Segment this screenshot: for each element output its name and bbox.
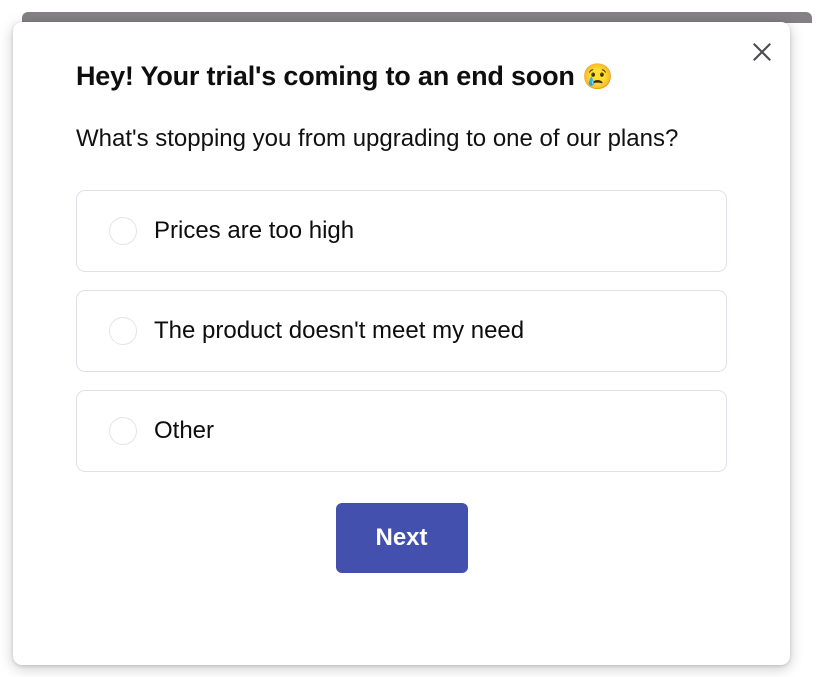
modal-body: Hey! Your trial's coming to an end soon … xyxy=(13,22,790,573)
page-title: Hey! Your trial's coming to an end soon … xyxy=(76,60,727,94)
radio-icon[interactable] xyxy=(109,217,137,245)
option-label: Other xyxy=(154,417,214,446)
survey-question: What's stopping you from upgrading to on… xyxy=(76,121,727,157)
radio-icon[interactable] xyxy=(109,317,137,345)
survey-options-list: Prices are too high The product doesn't … xyxy=(76,190,727,472)
close-button[interactable] xyxy=(740,30,784,74)
option-prices-too-high[interactable]: Prices are too high xyxy=(76,190,727,272)
modal-footer: Next xyxy=(76,503,727,573)
option-label: Prices are too high xyxy=(154,217,354,246)
option-label: The product doesn't meet my need xyxy=(154,317,524,346)
trial-ending-modal: Hey! Your trial's coming to an end soon … xyxy=(13,22,790,665)
option-other[interactable]: Other xyxy=(76,390,727,472)
close-icon xyxy=(750,40,774,64)
crying-face-emoji: 😢 xyxy=(582,63,613,91)
title-text: Hey! Your trial's coming to an end soon xyxy=(76,61,575,91)
option-product-doesnt-meet-need[interactable]: The product doesn't meet my need xyxy=(76,290,727,372)
next-button[interactable]: Next xyxy=(336,503,468,573)
radio-icon[interactable] xyxy=(109,417,137,445)
